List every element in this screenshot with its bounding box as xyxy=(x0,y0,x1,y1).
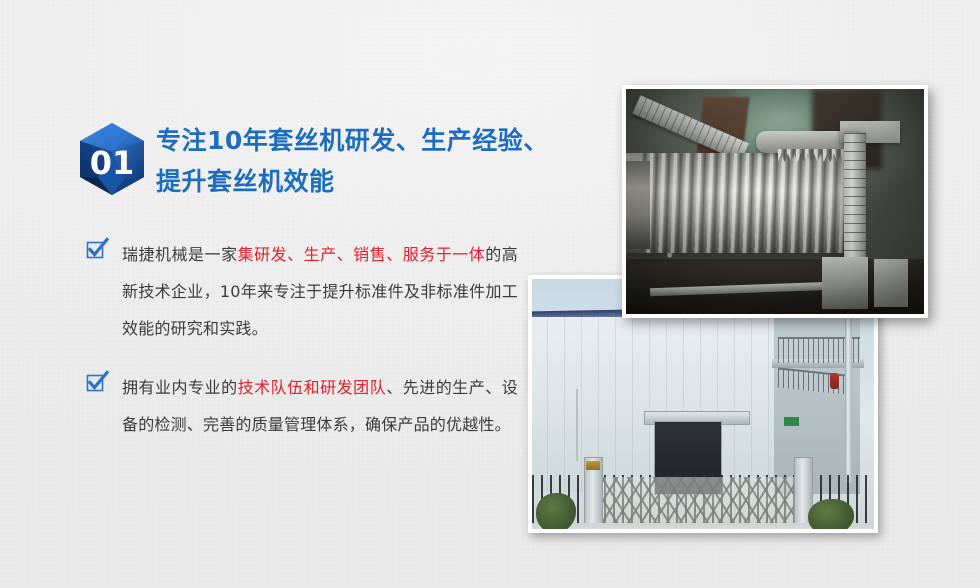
bullet-2-seg-0: 拥有业内专业的 xyxy=(122,378,238,397)
thread-scene xyxy=(626,89,924,314)
factory-name-plaque xyxy=(586,461,600,470)
bullet-text-1: 瑞捷机械是一家集研发、生产、销售、服务于一体的高新技术企业，10年来专注于提升标… xyxy=(122,236,518,347)
bullet-list: 瑞捷机械是一家集研发、生产、销售、服务于一体的高新技术企业，10年来专注于提升标… xyxy=(86,236,518,465)
step-badge-01: 01 xyxy=(78,122,146,196)
factory-downpipe xyxy=(845,303,852,483)
photo-vignette xyxy=(626,89,924,314)
title-block: 专注10年套丝机研发、生产经验、 提升套丝机效能 xyxy=(156,120,526,202)
heading-line-1: 专注10年套丝机研发、生产经验、 xyxy=(156,120,526,161)
advantage-banner: 01 专注10年套丝机研发、生产经验、 提升套丝机效能 瑞捷机械是一家集研发、生… xyxy=(0,0,980,588)
checkbox-checked-icon xyxy=(86,372,108,394)
bullet-1-seg-0: 瑞捷机械是一家 xyxy=(122,245,238,264)
bullet-1-seg-1-highlight: 集研发、生产、销售、服务于一体 xyxy=(238,245,486,264)
factory-bush-right xyxy=(808,499,854,533)
factory-alarm-lamp xyxy=(830,373,839,389)
text-column: 01 专注10年套丝机研发、生产经验、 提升套丝机效能 瑞捷机械是一家集研发、生… xyxy=(0,0,540,588)
list-item: 拥有业内专业的技术队伍和研发团队、先进的生产、设备的检测、完善的质量管理体系，确… xyxy=(86,369,518,443)
factory-sliding-gate xyxy=(594,477,794,529)
checkbox-checked-icon xyxy=(86,239,108,261)
factory-exit-sign xyxy=(784,417,799,426)
threaded-rod-caliper-photo xyxy=(622,85,928,318)
badge-number-text: 01 xyxy=(90,144,135,182)
list-item: 瑞捷机械是一家集研发、生产、销售、服务于一体的高新技术企业，10年来专注于提升标… xyxy=(86,236,518,347)
bullet-2-seg-1-highlight: 技术队伍和研发团队 xyxy=(238,378,387,397)
bullet-text-2: 拥有业内专业的技术队伍和研发团队、先进的生产、设备的检测、完善的质量管理体系，确… xyxy=(122,369,518,443)
factory-flag-pole xyxy=(576,389,578,461)
heading-line-2: 提升套丝机效能 xyxy=(156,161,526,202)
hexagon-gem-icon: 01 xyxy=(78,122,146,196)
